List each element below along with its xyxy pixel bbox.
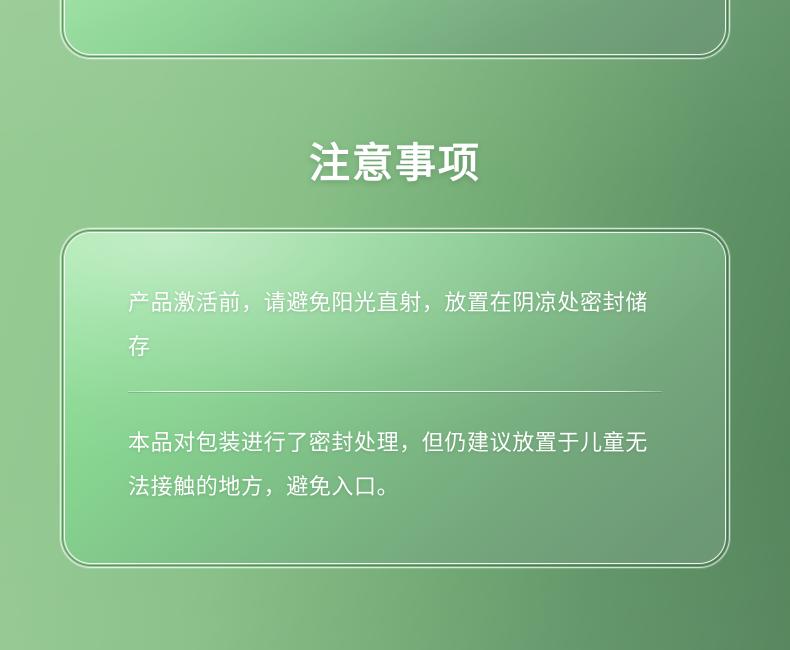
precaution-item-storage: 产品激活前，请避免阳光直射，放置在阴凉处密封储存 xyxy=(128,281,664,369)
page-title: 注意事项 xyxy=(0,139,790,187)
precautions-card: 产品激活前，请避免阳光直射，放置在阴凉处密封储存 本品对包装进行了密封处理，但仍… xyxy=(65,233,725,563)
preceding-content-card xyxy=(65,0,725,54)
precaution-item-child-safety: 本品对包装进行了密封处理，但仍建议放置于儿童无法接触的地方，避免入口。 xyxy=(128,369,664,509)
precautions-card-body: 产品激活前，请避免阳光直射，放置在阴凉处密封储存 本品对包装进行了密封处理，但仍… xyxy=(65,233,725,509)
card-sheen xyxy=(65,0,725,54)
precautions-divider xyxy=(128,391,662,392)
